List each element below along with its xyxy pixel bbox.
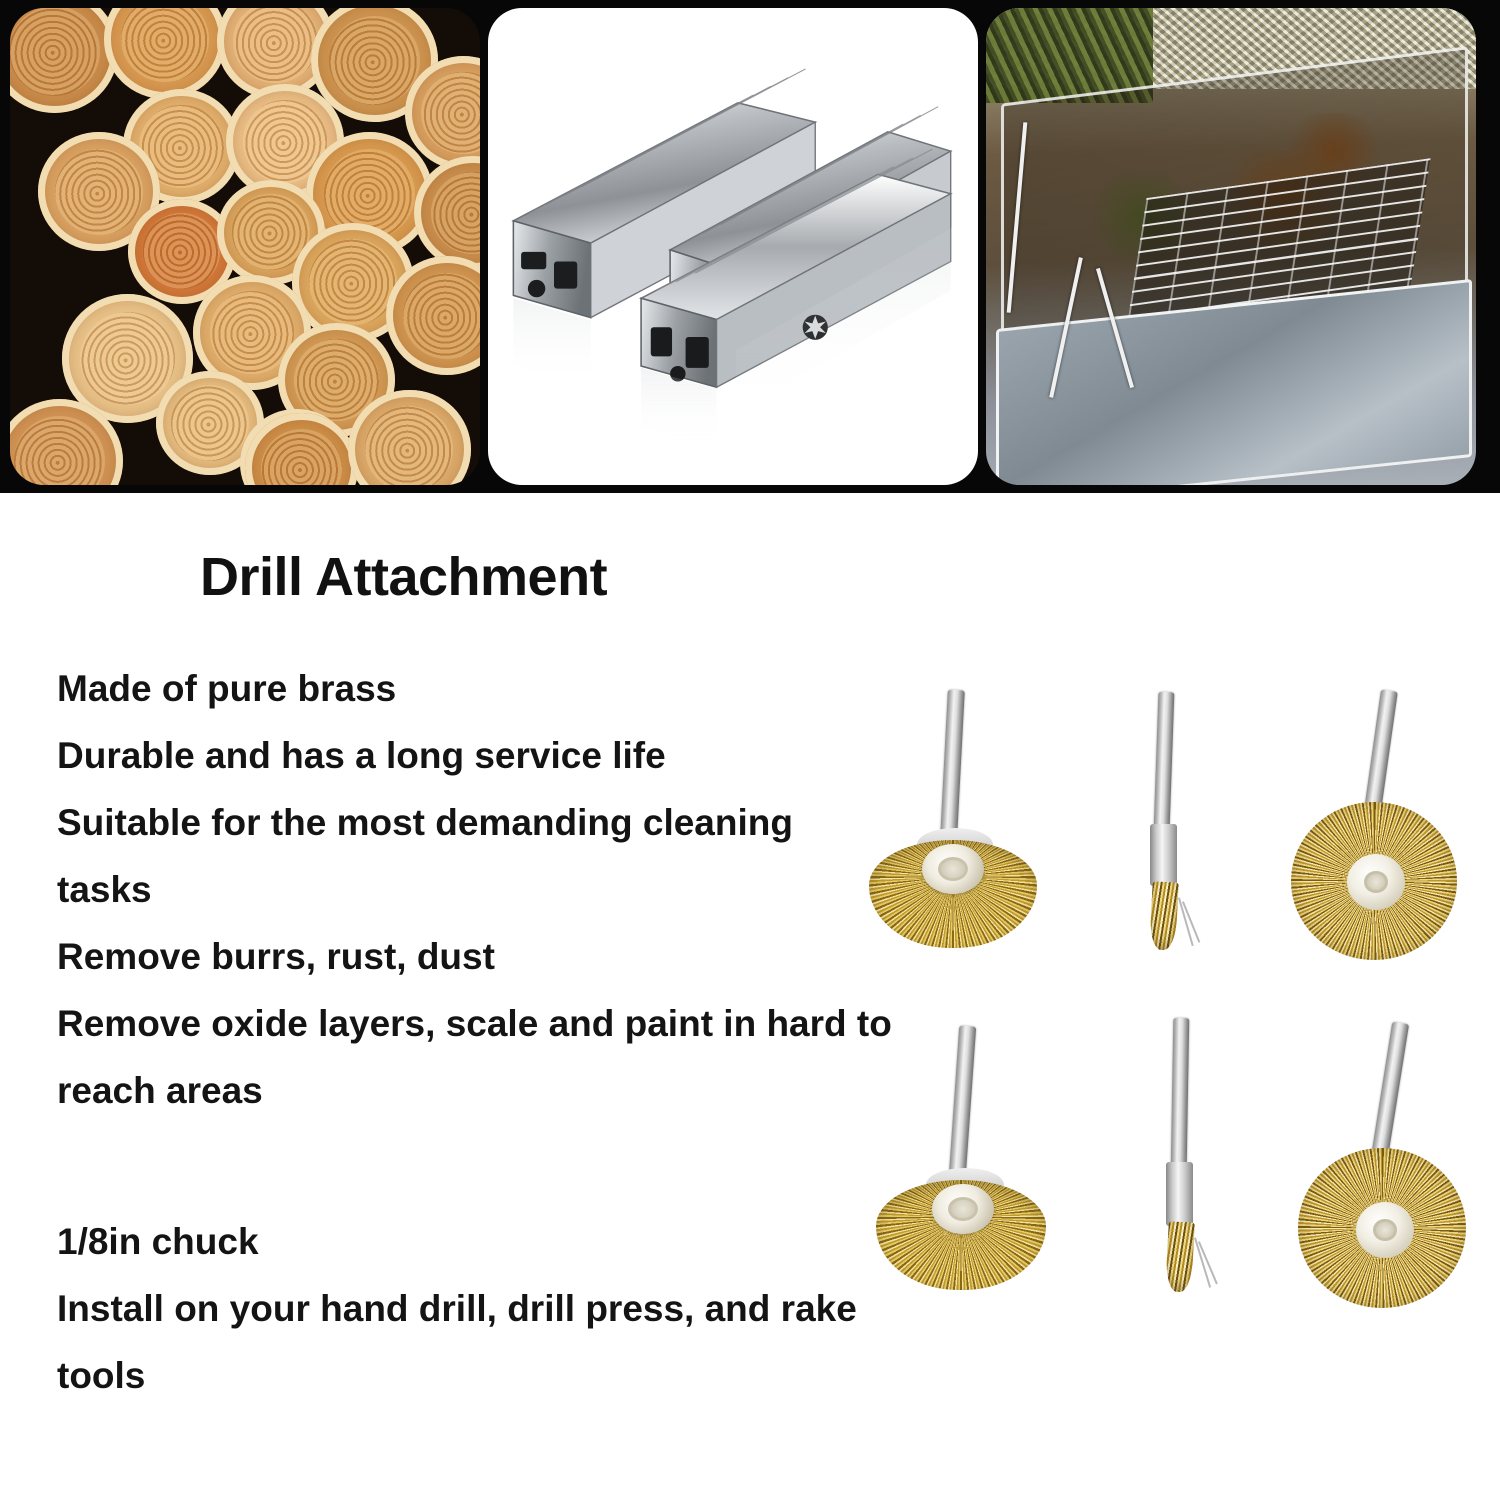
product-image-grid: [850, 670, 1490, 1360]
product-end-brush: [1128, 1018, 1248, 1288]
brass-bristles: [1165, 1221, 1195, 1292]
feature-line: Remove burrs, rust, dust: [57, 923, 887, 990]
feature-line: Durable and has a long service life: [57, 722, 887, 789]
brush-hub: [932, 1184, 994, 1234]
brush-shank: [949, 1026, 976, 1177]
page-title: Drill Attachment: [200, 546, 607, 608]
feature-line: Install on your hand drill, drill press,…: [57, 1275, 887, 1342]
brush-hub: [922, 844, 984, 894]
brush-shank: [1171, 1018, 1190, 1168]
feature-line: reach areas: [57, 1057, 887, 1124]
feature-line: 1/8in chuck: [57, 1208, 887, 1275]
feature-list-secondary: 1/8in chuck Install on your hand drill, …: [57, 1208, 887, 1409]
brush-shank: [1154, 692, 1175, 830]
brush-ferrule: [1150, 824, 1177, 886]
brush-ferrule: [1166, 1162, 1193, 1226]
feature-line: tasks: [57, 856, 887, 923]
brush-shank: [940, 690, 965, 837]
feature-line: tools: [57, 1342, 887, 1409]
product-wheel-brush: [1275, 690, 1485, 950]
feature-line: Remove oxide layers, scale and paint in …: [57, 990, 887, 1057]
extrusion-illustration: [488, 8, 978, 485]
feature-line: Suitable for the most demanding cleaning: [57, 789, 887, 856]
brush-hub: [1356, 1202, 1414, 1258]
feature-line: Made of pure brass: [57, 655, 887, 722]
product-photo-strip: [0, 0, 1500, 493]
product-end-brush: [1112, 692, 1232, 952]
product-cup-brush: [860, 690, 1060, 950]
product-wheel-brush: [1280, 1022, 1490, 1292]
product-cup-brush: [866, 1026, 1066, 1286]
brass-bristles: [1149, 881, 1179, 950]
brush-hub: [1347, 854, 1405, 910]
photo-stacked-logs: [10, 8, 480, 485]
photo-aluminum-extrusion: [488, 8, 978, 485]
feature-list-primary: Made of pure brass Durable and has a lon…: [57, 655, 887, 1124]
photo-rusty-grill: [986, 8, 1476, 485]
